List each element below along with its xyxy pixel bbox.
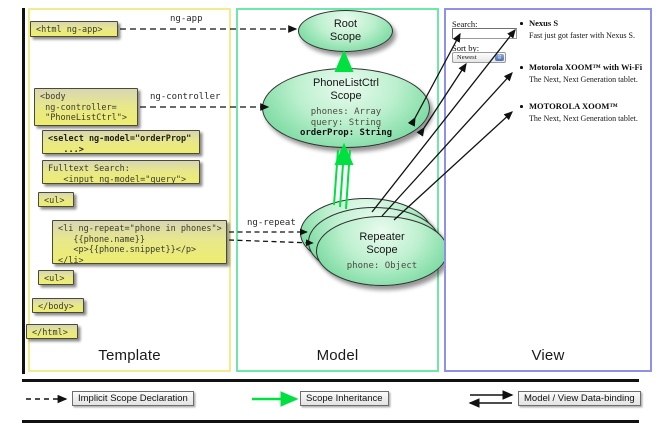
legend-marker-double-arrow	[470, 395, 512, 403]
code-html-close-tag: </html>	[26, 324, 78, 339]
column-model: Model	[236, 8, 439, 372]
phone-name: MOTOROLA XOOM™	[529, 101, 618, 111]
code-html-tag: <html ng-app>	[30, 21, 118, 37]
edge-label-ng-repeat: ng-repeat	[245, 218, 298, 228]
code-fulltext-search: Fulltext Search: <input ng-model="query"…	[42, 160, 200, 184]
code-body-close-tag: </body>	[32, 298, 84, 313]
column-label-view: View	[446, 347, 650, 364]
legend-item-implicit-scope-declaration: Implicit Scope Declaration	[72, 391, 194, 406]
code-body-tag: <body ng-controller= "PhoneListCtrl">	[34, 88, 138, 126]
column-label-model: Model	[238, 347, 437, 364]
list-bullet-icon	[520, 66, 523, 69]
list-bullet-icon	[520, 22, 523, 25]
scope-phonelistctrl-props-bold: orderProp: String	[300, 128, 392, 138]
column-label-template: Template	[30, 347, 229, 364]
scope-repeater-props: phone: Object	[347, 261, 417, 272]
edge-label-ng-controller: ng-controller	[148, 92, 222, 102]
scope-repeater-title: Repeater Scope	[359, 231, 404, 257]
sort-by-select[interactable]: Newest ⇳	[452, 52, 506, 63]
phone-snippet: Fast just got faster with Nexus S.	[529, 31, 635, 40]
scope-root-title: Root Scope	[330, 18, 361, 44]
phone-snippet: The Next, Next Generation tablet.	[529, 114, 638, 123]
legend-item-model-view-data-binding: Model / View Data-binding	[518, 391, 641, 406]
code-ul-open-tag: <ul>	[38, 192, 74, 207]
search-input[interactable]	[452, 28, 517, 39]
scope-phonelistctrl-title: PhoneListCtrl Scope	[313, 77, 379, 103]
sort-by-selected-value: Newest	[457, 54, 477, 61]
legend-bottom-rule	[22, 420, 639, 423]
code-select-tag: <select ng-model="orderProp" ...>	[42, 130, 200, 154]
code-ul-close-tag: <ul>	[38, 270, 74, 285]
scope-root: Root Scope	[298, 10, 393, 52]
scope-repeater: Repeater Scope phone: Object	[316, 216, 448, 286]
phone-name: Nexus S	[529, 18, 558, 28]
chevron-updown-icon: ⇳	[495, 54, 504, 61]
list-bullet-icon	[520, 105, 523, 108]
phone-name: Motorola XOOM™ with Wi-Fi	[529, 62, 642, 72]
figure-left-rule	[22, 8, 25, 374]
edge-label-ng-app: ng-app	[168, 14, 205, 24]
phone-snippet: The Next, Next Generation tablet.	[529, 75, 638, 84]
scope-phonelistctrl-props: phones: Array query: String orderProp: S…	[300, 107, 392, 139]
scope-phonelistctrl: PhoneListCtrl Scope phones: Array query:…	[262, 68, 430, 148]
legend-item-scope-inheritance: Scope Inheritance	[300, 391, 389, 406]
angular-scope-diagram: Template <html ng-app> <body ng-controll…	[0, 0, 661, 425]
code-li-repeat-tag: <li ng-repeat="phone in phones"> {{phone…	[52, 220, 227, 264]
column-template: Template	[28, 8, 231, 372]
scope-phonelistctrl-props-plain: phones: Array query: String	[311, 107, 381, 128]
legend-top-rule	[22, 379, 639, 382]
